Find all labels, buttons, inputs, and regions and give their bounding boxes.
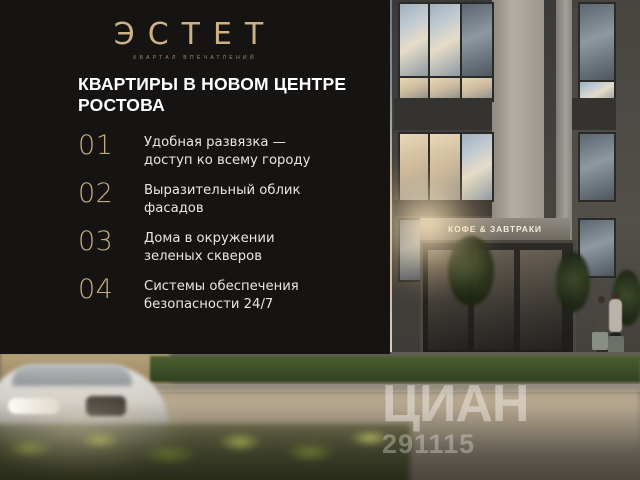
feature-text-line: Дома в окружении bbox=[144, 230, 275, 248]
list-item: 03 Дома в окружении зеленых скверов bbox=[78, 228, 378, 265]
page-title: КВАРТИРЫ В НОВОМ ЦЕНТРЕ РОСТОВА bbox=[78, 74, 378, 116]
shopping-bag bbox=[592, 332, 608, 350]
window-pane bbox=[578, 132, 616, 202]
tree-silhouette bbox=[556, 252, 590, 312]
feature-text-line: Удобная развязка — bbox=[144, 134, 310, 152]
feature-text: Системы обеспечения безопасности 24/7 bbox=[144, 276, 299, 313]
content-panel: ЭСТЕТ КВАРТАЛ ВПЕЧАТЛЕНИЙ КВАРТИРЫ В НОВ… bbox=[0, 0, 390, 354]
feature-list: 01 Удобная развязка — доступ ко всему го… bbox=[78, 132, 378, 324]
kerb-line bbox=[150, 384, 640, 392]
brand-logo-wordmark: ЭСТЕТ bbox=[114, 18, 277, 52]
feature-text: Дома в окружении зеленых скверов bbox=[144, 228, 275, 265]
feature-text-line: Выразительный облик bbox=[144, 182, 300, 200]
facade-spandrel bbox=[394, 98, 492, 130]
brand-tagline: КВАРТАЛ ВПЕЧАТЛЕНИЙ bbox=[0, 55, 390, 61]
window-pane bbox=[398, 2, 430, 78]
feature-text-line: доступ ко всему городу bbox=[144, 152, 310, 170]
list-item: 02 Выразительный облик фасадов bbox=[78, 180, 378, 217]
advert-image: КОФЕ & ЗАВТРАКИ bbox=[0, 0, 640, 480]
feature-text: Выразительный облик фасадов bbox=[144, 180, 300, 217]
feature-number: 03 bbox=[78, 228, 144, 256]
feature-text-line: безопасности 24/7 bbox=[144, 296, 299, 314]
window-pane bbox=[428, 2, 462, 78]
storefront-glass bbox=[520, 250, 562, 350]
brand-logo: ЭСТЕТ КВАРТАЛ ВПЕЧАТЛЕНИЙ bbox=[0, 18, 390, 61]
feature-number: 01 bbox=[78, 132, 144, 160]
feature-text-line: фасадов bbox=[144, 200, 300, 218]
feature-text-line: зеленых скверов bbox=[144, 248, 275, 266]
hedge-row bbox=[150, 356, 640, 382]
list-item: 04 Системы обеспечения безопасности 24/7 bbox=[78, 276, 378, 313]
window-pane bbox=[460, 2, 494, 78]
window-pane bbox=[578, 2, 616, 82]
feature-text-line: Системы обеспечения bbox=[144, 278, 299, 296]
feature-number: 04 bbox=[78, 276, 144, 304]
feature-number: 02 bbox=[78, 180, 144, 208]
list-item: 01 Удобная развязка — доступ ко всему го… bbox=[78, 132, 378, 169]
ground-light-glow bbox=[0, 370, 200, 480]
feature-text: Удобная развязка — доступ ко всему город… bbox=[144, 132, 310, 169]
facade-spandrel bbox=[572, 98, 616, 130]
